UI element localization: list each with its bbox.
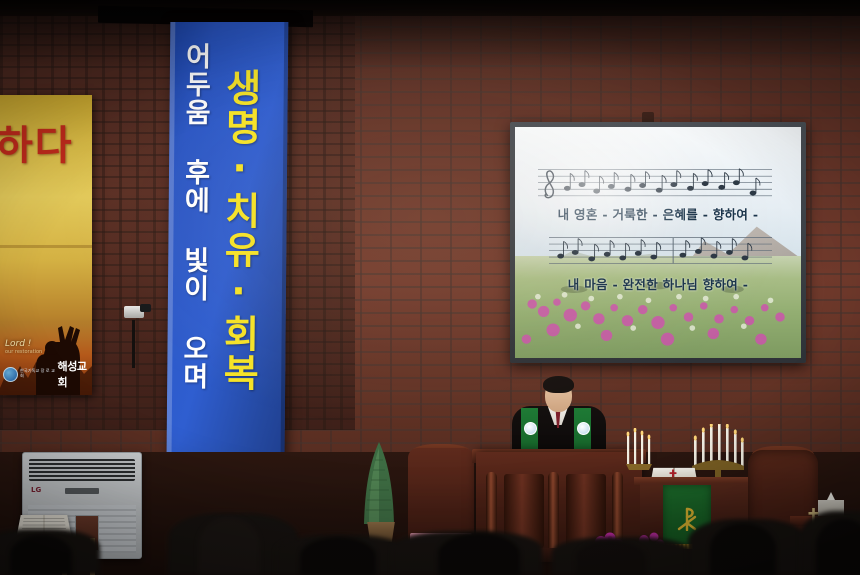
treble-clef-icon xyxy=(545,171,553,198)
church-logo-icon xyxy=(3,367,18,382)
music-staff-upper xyxy=(538,164,773,203)
chi-rho-symbol-icon xyxy=(676,505,698,531)
pastor-hair xyxy=(543,376,574,393)
ceiling-shadow xyxy=(0,0,860,70)
banner-fold-line xyxy=(0,245,92,248)
banner-headline-white: 어두움 후에 빛이 오며 xyxy=(178,42,209,390)
congregation-head xyxy=(816,519,860,575)
screen-bg-flowers xyxy=(515,256,801,358)
banner-headline-yellow: 생명·치유·회복 xyxy=(217,68,259,392)
banner-left-church-logo: 한국기독교 장 로 교 회 해성교회 xyxy=(3,358,92,390)
congregation-head xyxy=(576,541,646,575)
church-logo-subtext: 한국기독교 장 로 교 회 xyxy=(20,369,55,379)
camera-mount-pole xyxy=(132,320,135,368)
church-logo-name: 해성교회 xyxy=(57,358,92,390)
projection-screen-frame: 내 영혼 - 거룩한 - 은혜를 - 향하여 - xyxy=(510,122,806,363)
ac-air-grille xyxy=(29,459,135,481)
banner-left-english-text: Lord ! our restoration xyxy=(5,339,42,355)
music-staff-lower xyxy=(549,233,772,270)
screen-lyric-line-1: 내 영혼 - 거룩한 - 은혜를 - 향하여 - xyxy=(515,204,801,223)
church-sanctuary-photo: 하다 Lord ! our restoration 한국기독교 장 로 교 회 … xyxy=(0,0,860,575)
congregation-head xyxy=(710,523,776,575)
stole-emblem-icon xyxy=(577,422,590,435)
ac-brand-label: LG xyxy=(31,486,41,494)
candelabra-main xyxy=(690,424,746,484)
stole-emblem-icon xyxy=(524,422,537,435)
candelabra-left xyxy=(625,428,655,480)
camera-lens-icon xyxy=(140,304,151,312)
security-camera xyxy=(120,302,152,322)
congregation-head xyxy=(10,535,72,575)
congregation-head xyxy=(300,537,376,575)
projection-screen-display: 내 영혼 - 거룩한 - 은혜를 - 향하여 - xyxy=(515,127,801,358)
congregation-head xyxy=(198,517,260,575)
ac-display-panel xyxy=(65,488,99,494)
congregation-head xyxy=(438,533,520,575)
pulpit-column-center xyxy=(548,472,559,552)
banner-left-headline: 하다 xyxy=(0,113,92,171)
screen-lyric-line-2: 내 마음 - 완전한 하나님 향하여 - xyxy=(515,274,801,293)
banner-left-yellow: 하다 Lord ! our restoration 한국기독교 장 로 교 회 … xyxy=(0,95,92,395)
